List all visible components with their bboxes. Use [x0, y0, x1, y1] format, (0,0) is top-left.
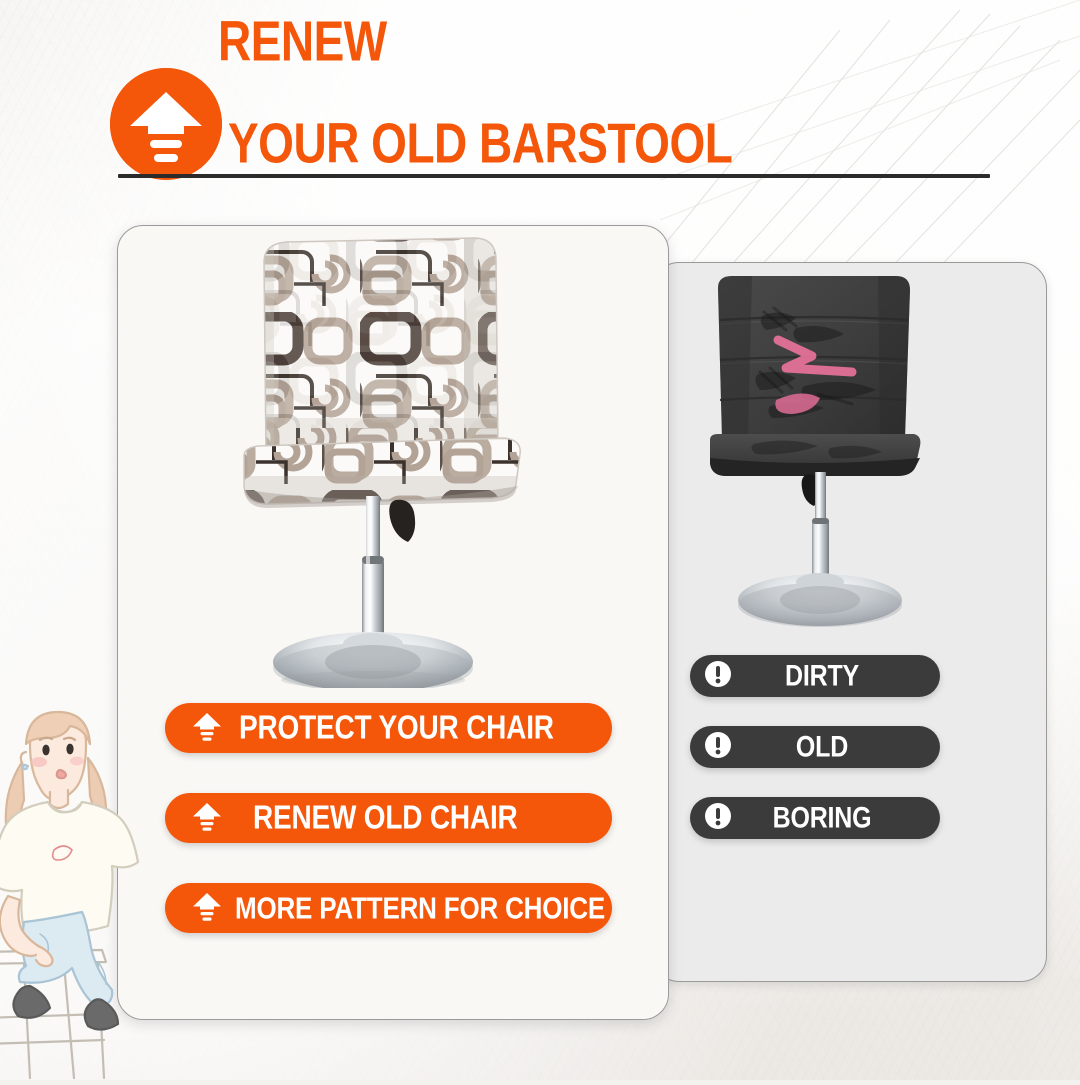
woman-on-stool-illustration [0, 700, 184, 1080]
benefit-pill-protect-your-chair[interactable]: PROTECT YOUR CHAIR [165, 703, 612, 753]
problem-pill-old[interactable]: OLD [690, 726, 940, 768]
benefit-pill-label: PROTECT YOUR CHAIR [239, 709, 554, 747]
benefit-pill-label: MORE PATTERN FOR CHOICE [235, 890, 605, 927]
problem-pill-boring[interactable]: BORING [690, 797, 940, 839]
problem-pill-label: DIRTY [732, 659, 912, 693]
exclamation-circle-icon [704, 802, 732, 835]
old-chair-image [700, 268, 950, 628]
exclamation-circle-icon [704, 731, 732, 764]
benefit-pill-more-pattern-for-choice[interactable]: MORE PATTERN FOR CHOICE [165, 883, 612, 933]
benefit-pill-label: RENEW OLD CHAIR [253, 799, 518, 837]
upgrade-arrow-icon [191, 710, 223, 747]
title-divider-rule [118, 174, 990, 178]
upgrade-arrow-icon [191, 890, 223, 927]
problem-pill-dirty[interactable]: DIRTY [690, 655, 940, 697]
problem-pill-label: OLD [732, 730, 912, 764]
new-chair-image [228, 228, 548, 688]
page-title-line-1: RENEW [218, 8, 387, 74]
page-title-line-2: YOUR OLD BARSTOOL [228, 110, 732, 176]
benefit-pill-renew-old-chair[interactable]: RENEW OLD CHAIR [165, 793, 612, 843]
header: RENEW YOUR OLD BARSTOOL [0, 0, 1080, 195]
exclamation-circle-icon [704, 660, 732, 693]
problem-pill-label: BORING [732, 801, 912, 835]
upgrade-arrow-icon [191, 800, 223, 837]
upgrade-arrow-icon [110, 68, 222, 180]
